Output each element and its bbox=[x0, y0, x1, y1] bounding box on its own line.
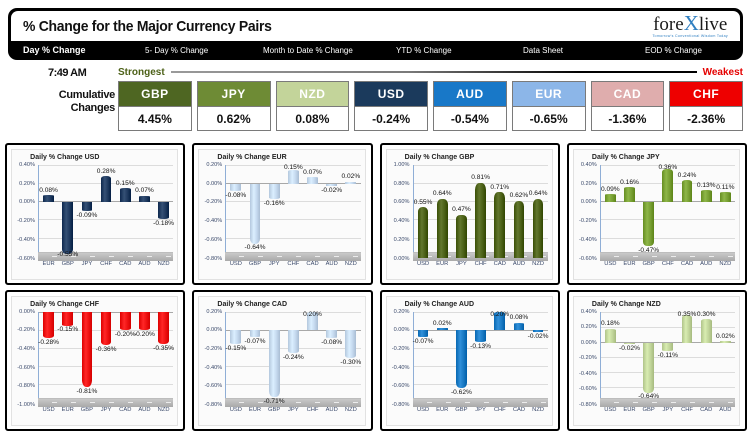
bar-jpy[interactable] bbox=[288, 330, 299, 352]
bar-eur[interactable] bbox=[250, 330, 261, 337]
y-axis-tick-label: -0.20% bbox=[17, 327, 35, 333]
bar-jpy[interactable] bbox=[101, 312, 112, 346]
chart-panel-chf[interactable]: Daily % Change CHF0.00%-0.20%-0.40%-0.60… bbox=[5, 290, 185, 432]
cumulative-label-line2: Changes bbox=[71, 102, 115, 114]
chart-grid: Daily % Change USD0.40%0.20%0.00%-0.20%-… bbox=[5, 143, 747, 431]
x-axis-tick-label: GBP bbox=[639, 407, 658, 413]
nav-item-day-change[interactable]: Day % Change bbox=[23, 45, 145, 55]
x-axis-tick-label: AUD bbox=[697, 261, 716, 267]
y-axis: 0.20%0.00%-0.20%-0.40%-0.60%-0.80% bbox=[199, 165, 224, 259]
y-axis-tick-label: -0.60% bbox=[579, 386, 597, 392]
bar-value-label: 0.36% bbox=[658, 164, 677, 171]
chart-plot-area: Daily % Change EUR0.20%0.00%-0.20%-0.40%… bbox=[198, 149, 365, 280]
bar-value-label: 0.15% bbox=[116, 180, 135, 187]
chart-plot-area: Daily % Change NZD0.40%0.20%0.00%-0.20%-… bbox=[573, 296, 740, 427]
chart-canvas: 0.40%0.20%0.00%-0.20%-0.40%-0.60%-0.80%0… bbox=[574, 312, 737, 426]
bar-value-label: -0.47% bbox=[638, 247, 659, 254]
bar-cad[interactable] bbox=[307, 177, 318, 184]
currency-tile-gbp[interactable]: GBP4.45% bbox=[118, 81, 192, 131]
x-axis-tick-label: EUR bbox=[620, 261, 639, 267]
page-title: % Change for the Major Currency Pairs bbox=[23, 18, 272, 35]
title-bar: % Change for the Major Currency Pairs fo… bbox=[11, 11, 740, 41]
logo-text-left: fore bbox=[653, 14, 684, 35]
currency-tile-cad[interactable]: CAD-1.36% bbox=[591, 81, 665, 131]
bar-jpy[interactable] bbox=[475, 330, 486, 342]
bar-nzd[interactable] bbox=[533, 199, 544, 259]
bar-aud[interactable] bbox=[701, 190, 712, 202]
y-axis: 0.40%0.20%0.00%-0.20%-0.40%-0.60% bbox=[574, 165, 599, 259]
bar-cad[interactable] bbox=[514, 323, 525, 330]
bar-cell: -0.13% bbox=[471, 312, 490, 406]
y-axis-tick-label: 0.00% bbox=[394, 327, 410, 333]
bar-jpy[interactable] bbox=[662, 343, 673, 352]
bar-value-label: 0.64% bbox=[433, 190, 452, 197]
bar-value-label: 0.35% bbox=[678, 311, 697, 318]
bar-chf[interactable] bbox=[475, 183, 486, 259]
bar-value-label: -0.08% bbox=[321, 339, 342, 346]
currency-tile-chf[interactable]: CHF-2.36% bbox=[669, 81, 743, 131]
y-axis-tick-label: -0.60% bbox=[205, 383, 223, 389]
bar-cell: 0.16% bbox=[620, 165, 639, 259]
nav-item-mtd-change[interactable]: Month to Date % Change bbox=[263, 46, 396, 55]
bar-cell: -0.02% bbox=[322, 165, 341, 259]
x-axis-tick-label: JPY bbox=[284, 407, 303, 413]
bar-cell: 0.13% bbox=[697, 165, 716, 259]
bar-cell: -0.36% bbox=[97, 312, 116, 406]
bar-series: 0.08%-0.55%-0.09%0.28%0.15%0.07%-0.18% bbox=[39, 165, 173, 259]
bar-usd[interactable] bbox=[43, 312, 54, 338]
bar-usd[interactable] bbox=[230, 184, 241, 191]
bar-cad[interactable] bbox=[682, 180, 693, 202]
bar-cell: -0.30% bbox=[341, 312, 360, 406]
chart-panel-usd[interactable]: Daily % Change USD0.40%0.20%0.00%-0.20%-… bbox=[5, 143, 185, 285]
bar-cell: -0.08% bbox=[226, 165, 245, 259]
bar-value-label: -0.35% bbox=[153, 345, 174, 352]
bar-cell: -0.20% bbox=[116, 312, 135, 406]
bar-cad[interactable] bbox=[120, 188, 131, 202]
bar-aud[interactable] bbox=[514, 201, 525, 259]
forexlive-logo[interactable]: foreXlive Tomorrow's Conventional Wisdom… bbox=[652, 13, 732, 39]
x-axis-tick-label: CAD bbox=[116, 261, 135, 267]
bar-eur[interactable] bbox=[62, 312, 73, 326]
y-axis-tick-label: -0.20% bbox=[205, 199, 223, 205]
strength-gradient-line bbox=[171, 71, 697, 73]
bar-aud[interactable] bbox=[326, 184, 337, 186]
currency-tile-code: CHF bbox=[670, 82, 742, 106]
y-axis-tick-label: 0.00% bbox=[581, 340, 597, 346]
bar-gbp[interactable] bbox=[62, 202, 73, 253]
bar-eur[interactable] bbox=[43, 195, 54, 202]
chart-title: Daily % Change USD bbox=[30, 154, 99, 161]
bar-value-label: 0.11% bbox=[716, 184, 734, 191]
bar-cell: 0.02% bbox=[716, 312, 735, 406]
logo-text-right: live bbox=[699, 14, 728, 35]
x-axis-tick-label: NZD bbox=[154, 261, 173, 267]
bar-cell: 0.47% bbox=[452, 165, 471, 259]
cumulative-changes-section: 7:49 AM Strongest Weakest Cumulative Cha… bbox=[0, 63, 751, 135]
bar-jpy[interactable] bbox=[456, 215, 467, 259]
chart-canvas: 0.40%0.20%0.00%-0.20%-0.40%-0.60%0.08%-0… bbox=[12, 165, 175, 279]
chart-title: Daily % Change GBP bbox=[405, 154, 475, 161]
bar-usd[interactable] bbox=[605, 194, 616, 202]
bar-series: 0.18%-0.02%-0.64%-0.11%0.35%0.30%0.02% bbox=[601, 312, 735, 406]
x-axis: USDEURGBPJPYCHFAUDNZD bbox=[226, 407, 360, 423]
bar-value-label: -0.13% bbox=[470, 343, 491, 350]
bar-cad[interactable] bbox=[120, 312, 131, 331]
bar-series: -0.07%0.02%-0.62%-0.13%0.20%0.08%-0.02% bbox=[414, 312, 548, 406]
bar-value-label: 0.08% bbox=[510, 314, 529, 321]
currency-tile-nzd[interactable]: NZD0.08% bbox=[276, 81, 350, 131]
bar-cell: -0.02% bbox=[620, 312, 639, 406]
bar-value-label: -0.20% bbox=[115, 331, 136, 338]
currency-tile-code: USD bbox=[355, 82, 427, 106]
chart-panel-nzd[interactable]: Daily % Change NZD0.40%0.20%0.00%-0.20%-… bbox=[567, 290, 747, 432]
x-axis-tick-label: EUR bbox=[58, 407, 77, 413]
bar-value-label: 0.02% bbox=[716, 333, 735, 340]
bar-cell: 0.55% bbox=[414, 165, 433, 259]
y-axis: 0.40%0.20%0.00%-0.20%-0.40%-0.60%-0.80% bbox=[574, 312, 599, 406]
y-axis-tick-label: -0.20% bbox=[579, 218, 597, 224]
bar-value-label: 0.08% bbox=[39, 187, 58, 194]
bar-chf[interactable] bbox=[682, 315, 693, 342]
chart-panel-eur[interactable]: Daily % Change EUR0.20%0.00%-0.20%-0.40%… bbox=[192, 143, 372, 285]
bar-jpy[interactable] bbox=[269, 184, 280, 199]
bar-gbp[interactable] bbox=[250, 184, 261, 244]
chart-plot-area: Daily % Change CAD0.20%0.00%-0.20%-0.40%… bbox=[198, 296, 365, 427]
bar-value-label: -0.24% bbox=[283, 354, 304, 361]
x-axis-tick-label: USD bbox=[226, 407, 245, 413]
currency-tile-usd[interactable]: USD-0.24% bbox=[354, 81, 428, 131]
y-axis-tick-label: 0.00% bbox=[206, 327, 222, 333]
bar-aud[interactable] bbox=[720, 341, 731, 343]
bar-value-label: 0.30% bbox=[697, 311, 716, 318]
bar-value-label: 0.16% bbox=[620, 179, 639, 186]
x-axis-tick-label: EUR bbox=[39, 261, 58, 267]
chart-panel-cad[interactable]: Daily % Change CAD0.20%0.00%-0.20%-0.40%… bbox=[192, 290, 372, 432]
x-axis-tick-label: USD bbox=[414, 407, 433, 413]
bar-value-label: 0.81% bbox=[471, 174, 490, 181]
bar-cell: 0.08% bbox=[509, 312, 528, 406]
x-axis-tick-label: GBP bbox=[265, 407, 284, 413]
x-axis-tick-label: CHF bbox=[490, 407, 509, 413]
bar-cell: 0.24% bbox=[677, 165, 696, 259]
chart-title: Daily % Change AUD bbox=[405, 301, 474, 308]
app-header: % Change for the Major Currency Pairs fo… bbox=[8, 8, 743, 60]
bar-cell: 0.20% bbox=[490, 312, 509, 406]
bar-value-label: -0.64% bbox=[638, 393, 659, 400]
y-axis-tick-label: 0.60% bbox=[394, 199, 410, 205]
bar-value-label: -0.36% bbox=[96, 346, 117, 353]
bar-usd[interactable] bbox=[605, 329, 616, 343]
bar-value-label: 0.71% bbox=[490, 184, 509, 191]
y-axis-tick-label: 0.00% bbox=[19, 199, 35, 205]
y-axis-tick-label: -0.20% bbox=[392, 346, 410, 352]
bar-nzd[interactable] bbox=[345, 330, 356, 358]
chart-title: Daily % Change JPY bbox=[592, 154, 660, 161]
bar-nzd[interactable] bbox=[533, 330, 544, 332]
y-axis-tick-label: 0.80% bbox=[394, 181, 410, 187]
nav-item-ytd-change[interactable]: YTD % Change bbox=[396, 46, 523, 55]
bar-cell: 0.15% bbox=[284, 165, 303, 259]
x-axis-tick-label: JPY bbox=[471, 407, 490, 413]
x-axis-tick-label: CHF bbox=[677, 407, 696, 413]
chart-panel-aud[interactable]: Daily % Change AUD0.20%0.00%-0.20%-0.40%… bbox=[380, 290, 560, 432]
y-axis-tick-label: 1.00% bbox=[394, 162, 410, 168]
bar-cell: -0.08% bbox=[322, 312, 341, 406]
currency-tile-value: -0.65% bbox=[513, 106, 585, 130]
bar-value-label: 0.47% bbox=[452, 206, 471, 213]
bar-value-label: -0.71% bbox=[264, 398, 285, 405]
bar-value-label: -0.02% bbox=[528, 333, 549, 340]
bar-nzd[interactable] bbox=[158, 312, 169, 345]
bar-eur[interactable] bbox=[624, 187, 635, 202]
bar-series: -0.15%-0.07%-0.71%-0.24%0.20%-0.08%-0.30… bbox=[226, 312, 360, 406]
y-axis: 0.40%0.20%0.00%-0.20%-0.40%-0.60% bbox=[12, 165, 37, 259]
chart-canvas: 0.40%0.20%0.00%-0.20%-0.40%-0.60%0.09%0.… bbox=[574, 165, 737, 279]
bar-value-label: -0.30% bbox=[340, 359, 361, 366]
bar-cell: 0.07% bbox=[303, 165, 322, 259]
currency-tile-eur[interactable]: EUR-0.65% bbox=[512, 81, 586, 131]
currency-tile-value: 0.08% bbox=[277, 106, 349, 130]
bar-cell: -0.20% bbox=[135, 312, 154, 406]
y-axis-tick-label: -0.20% bbox=[579, 355, 597, 361]
bar-cell: -0.35% bbox=[154, 312, 173, 406]
x-axis-tick-label: AUD bbox=[322, 407, 341, 413]
bar-cell: 0.64% bbox=[529, 165, 548, 259]
bar-value-label: -0.20% bbox=[134, 331, 155, 338]
nav-item-5day-change[interactable]: 5- Day % Change bbox=[145, 46, 263, 55]
strength-scale: Strongest Weakest bbox=[118, 65, 743, 79]
bar-value-label: -0.08% bbox=[225, 192, 246, 199]
y-axis-tick-label: 0.00% bbox=[206, 181, 222, 187]
y-axis-tick-label: 0.20% bbox=[394, 237, 410, 243]
bar-cell: 0.81% bbox=[471, 165, 490, 259]
bar-nzd[interactable] bbox=[720, 192, 731, 202]
bar-aud[interactable] bbox=[326, 330, 337, 337]
x-axis-tick-label: JPY bbox=[658, 407, 677, 413]
y-axis-tick-label: 0.40% bbox=[19, 162, 35, 168]
bar-cad[interactable] bbox=[494, 192, 505, 258]
x-axis-tick-label: CAD bbox=[490, 261, 509, 267]
strongest-label: Strongest bbox=[118, 67, 165, 78]
x-axis-tick-label: GBP bbox=[77, 407, 96, 413]
bar-nzd[interactable] bbox=[345, 182, 356, 184]
y-axis: 0.20%0.00%-0.20%-0.40%-0.60%-0.80% bbox=[387, 312, 412, 406]
bar-cell: 0.30% bbox=[697, 312, 716, 406]
y-axis-tick-label: -0.20% bbox=[17, 218, 35, 224]
bar-nzd[interactable] bbox=[158, 202, 169, 219]
nav-bar: Day % Change 5- Day % Change Month to Da… bbox=[11, 41, 740, 59]
bar-value-label: -0.09% bbox=[76, 212, 97, 219]
y-axis-tick-label: -0.80% bbox=[579, 402, 597, 408]
x-axis: USDGBPJPYCHFCADAUDNZD bbox=[226, 261, 360, 277]
currency-tile-jpy[interactable]: JPY0.62% bbox=[197, 81, 271, 131]
bar-value-label: 0.09% bbox=[601, 186, 620, 193]
x-axis-tick-label: AUD bbox=[716, 407, 735, 413]
bar-value-label: 0.07% bbox=[303, 169, 322, 176]
y-axis-tick-label: 0.40% bbox=[581, 162, 597, 168]
bar-cell: -0.24% bbox=[284, 312, 303, 406]
bar-gbp[interactable] bbox=[643, 343, 654, 393]
y-axis-tick-label: -0.40% bbox=[205, 218, 223, 224]
bar-cell: -0.16% bbox=[265, 165, 284, 259]
y-axis-tick-label: -0.80% bbox=[17, 383, 35, 389]
y-axis: 0.20%0.00%-0.20%-0.40%-0.60%-0.80% bbox=[199, 312, 224, 406]
y-axis-tick-label: -0.60% bbox=[17, 365, 35, 371]
chart-canvas: 0.20%0.00%-0.20%-0.40%-0.60%-0.80%-0.08%… bbox=[199, 165, 362, 279]
bar-gbp[interactable] bbox=[456, 330, 467, 388]
bar-cell: 0.62% bbox=[509, 165, 528, 259]
chart-plot-area: Daily % Change GBP1.00%0.80%0.60%0.40%0.… bbox=[386, 149, 553, 280]
x-axis-tick-label: USD bbox=[39, 407, 58, 413]
bar-value-label: -0.28% bbox=[38, 339, 59, 346]
bar-cell: 0.20% bbox=[303, 312, 322, 406]
bar-cell: -0.47% bbox=[639, 165, 658, 259]
y-axis-tick-label: -0.40% bbox=[17, 237, 35, 243]
chart-title: Daily % Change CAD bbox=[217, 301, 287, 308]
y-axis-tick-label: 0.00% bbox=[581, 199, 597, 205]
x-axis-tick-label: CAD bbox=[509, 407, 528, 413]
y-axis-tick-label: 0.20% bbox=[581, 324, 597, 330]
bar-value-label: 0.02% bbox=[342, 173, 361, 180]
bar-value-label: -0.81% bbox=[76, 388, 97, 395]
x-axis-tick-label: USD bbox=[601, 261, 620, 267]
bar-aud[interactable] bbox=[139, 196, 150, 203]
bar-eur[interactable] bbox=[624, 343, 635, 345]
currency-tile-value: -2.36% bbox=[670, 106, 742, 130]
bar-cell: 0.02% bbox=[341, 165, 360, 259]
bar-value-label: 0.20% bbox=[303, 311, 322, 318]
bar-series: 0.09%0.16%-0.47%0.36%0.24%0.13%0.11% bbox=[601, 165, 735, 259]
x-axis-tick-label: CAD bbox=[677, 261, 696, 267]
y-axis-tick-label: -0.40% bbox=[17, 346, 35, 352]
x-axis-tick-label: CAD bbox=[697, 407, 716, 413]
bar-cell: 0.36% bbox=[658, 165, 677, 259]
x-axis-tick-label: NZD bbox=[341, 407, 360, 413]
weakest-label: Weakest bbox=[703, 67, 743, 78]
x-axis-tick-label: CHF bbox=[97, 261, 116, 267]
x-axis-tick-label: JPY bbox=[77, 261, 96, 267]
bar-cell: 0.35% bbox=[677, 312, 696, 406]
cumulative-changes-label: Cumulative Changes bbox=[10, 89, 115, 115]
y-axis-tick-label: -0.40% bbox=[392, 365, 410, 371]
cumulative-label-line1: Cumulative bbox=[59, 89, 115, 101]
x-axis-tick-label: NZD bbox=[529, 407, 548, 413]
bar-value-label: 0.64% bbox=[529, 190, 548, 197]
bar-cell: -0.62% bbox=[452, 312, 471, 406]
bar-gbp[interactable] bbox=[643, 202, 654, 246]
x-axis-tick-label: CAD bbox=[303, 261, 322, 267]
chart-panel-jpy[interactable]: Daily % Change JPY0.40%0.20%0.00%-0.20%-… bbox=[567, 143, 747, 285]
bar-value-label: -0.02% bbox=[619, 345, 640, 352]
x-axis: USDEURGBPJPYCADAUDNZD bbox=[39, 407, 173, 423]
y-axis-tick-label: 0.40% bbox=[394, 218, 410, 224]
x-axis-tick-label: GBP bbox=[245, 261, 264, 267]
x-axis-tick-label: GBP bbox=[452, 407, 471, 413]
chart-plot-area: Daily % Change AUD0.20%0.00%-0.20%-0.40%… bbox=[386, 296, 553, 427]
x-axis-tick-label: CHF bbox=[471, 261, 490, 267]
nav-item-data-sheet[interactable]: Data Sheet bbox=[523, 46, 645, 55]
x-axis-tick-label: NZD bbox=[716, 261, 735, 267]
bar-gbp[interactable] bbox=[269, 330, 280, 396]
x-axis: EURGBPJPYCHFCADAUDNZD bbox=[39, 261, 173, 277]
nav-item-eod-change[interactable]: EOD % Change bbox=[645, 46, 702, 55]
bar-cad[interactable] bbox=[701, 319, 712, 342]
chart-title: Daily % Change EUR bbox=[217, 154, 286, 161]
bar-chf[interactable] bbox=[101, 176, 112, 202]
bar-cell: -0.09% bbox=[77, 165, 96, 259]
x-axis: USDEURGBPJPYCHFCADAUD bbox=[601, 407, 735, 423]
bar-usd[interactable] bbox=[418, 207, 429, 258]
x-axis-tick-label: CHF bbox=[303, 407, 322, 413]
y-axis-tick-label: -0.80% bbox=[205, 402, 223, 408]
bar-chf[interactable] bbox=[288, 170, 299, 184]
bar-cell: -0.55% bbox=[58, 165, 77, 259]
currency-tile-code: GBP bbox=[119, 82, 191, 106]
bar-value-label: -0.62% bbox=[451, 389, 472, 396]
bar-value-label: 0.62% bbox=[510, 192, 529, 199]
x-axis-tick-label: AUD bbox=[135, 261, 154, 267]
bar-gbp[interactable] bbox=[82, 312, 93, 388]
bar-cell: -0.28% bbox=[39, 312, 58, 406]
bar-cell: -0.11% bbox=[658, 312, 677, 406]
currency-tile-code: JPY bbox=[198, 82, 270, 106]
bar-value-label: -0.07% bbox=[413, 338, 434, 345]
y-axis-tick-label: -0.80% bbox=[205, 256, 223, 262]
bar-cell: 0.28% bbox=[97, 165, 116, 259]
bar-cell: -0.15% bbox=[226, 312, 245, 406]
bar-cell: -0.64% bbox=[639, 312, 658, 406]
x-axis-tick-label: CHF bbox=[658, 261, 677, 267]
bar-eur[interactable] bbox=[437, 328, 448, 330]
y-axis-tick-label: -1.00% bbox=[17, 402, 35, 408]
bar-series: -0.28%-0.15%-0.81%-0.36%-0.20%-0.20%-0.3… bbox=[39, 312, 173, 406]
chart-panel-gbp[interactable]: Daily % Change GBP1.00%0.80%0.60%0.40%0.… bbox=[380, 143, 560, 285]
y-axis: 1.00%0.80%0.60%0.40%0.20%0.00% bbox=[387, 165, 412, 259]
chart-plot-area: Daily % Change CHF0.00%-0.20%-0.40%-0.60… bbox=[11, 296, 178, 427]
currency-tile-aud[interactable]: AUD-0.54% bbox=[433, 81, 507, 131]
y-axis-tick-label: -0.60% bbox=[17, 256, 35, 262]
currency-tile-value: -0.54% bbox=[434, 106, 506, 130]
currency-tiles: GBP4.45%JPY0.62%NZD0.08%USD-0.24%AUD-0.5… bbox=[118, 81, 743, 131]
y-axis-tick-label: 0.20% bbox=[206, 309, 222, 315]
logo-tagline: Tomorrow's Conventional Wisdom Today bbox=[652, 35, 728, 39]
x-axis-tick-label: EUR bbox=[620, 407, 639, 413]
y-axis-tick-label: -0.40% bbox=[579, 237, 597, 243]
currency-tile-value: -1.36% bbox=[592, 106, 664, 130]
bar-value-label: 0.24% bbox=[678, 172, 697, 179]
timestamp: 7:49 AM bbox=[48, 67, 86, 79]
bar-cell: 0.18% bbox=[601, 312, 620, 406]
chart-title: Daily % Change NZD bbox=[592, 301, 661, 308]
x-axis-tick-label: NZD bbox=[154, 407, 173, 413]
bar-jpy[interactable] bbox=[82, 202, 93, 210]
chart-plot-area: Daily % Change USD0.40%0.20%0.00%-0.20%-… bbox=[11, 149, 178, 280]
currency-tile-value: 0.62% bbox=[198, 106, 270, 130]
bar-series: -0.08%-0.64%-0.16%0.15%0.07%-0.02%0.02% bbox=[226, 165, 360, 259]
bar-aud[interactable] bbox=[139, 312, 150, 331]
bar-chf[interactable] bbox=[662, 169, 673, 203]
bar-usd[interactable] bbox=[230, 330, 241, 344]
bar-value-label: -0.07% bbox=[245, 338, 266, 345]
bar-value-label: 0.07% bbox=[135, 187, 154, 194]
bar-value-label: -0.18% bbox=[153, 220, 174, 227]
bar-usd[interactable] bbox=[418, 330, 429, 337]
bar-eur[interactable] bbox=[437, 199, 448, 259]
bar-value-label: 0.20% bbox=[490, 311, 509, 318]
bar-cell: 0.02% bbox=[433, 312, 452, 406]
bar-cell: -0.02% bbox=[529, 312, 548, 406]
